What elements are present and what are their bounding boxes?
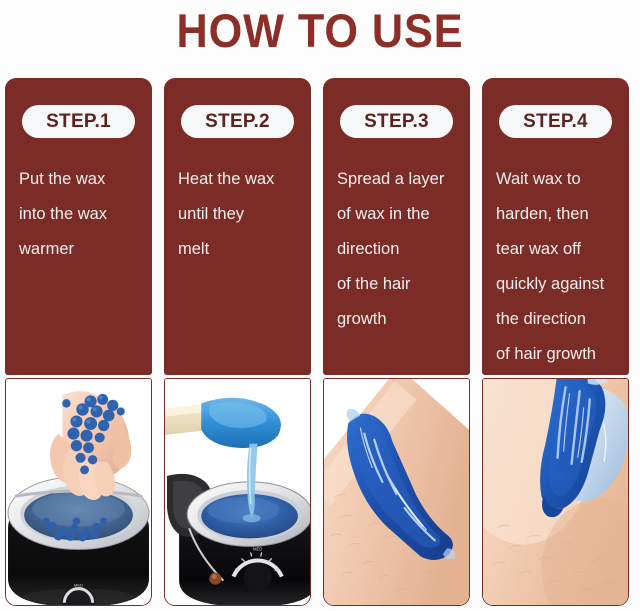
step-photo-4 [482, 378, 629, 606]
step-text-2: Heat the wax until they melt [178, 162, 305, 267]
step-photo-2: MED [164, 378, 311, 606]
step-badge-label-2: STEP.2 [205, 112, 270, 131]
step-badge-1: STEP.1 [22, 105, 135, 138]
step-column-3: STEP.3 Spread a layer of wax in the dire… [323, 78, 470, 606]
hand-pouring-wax-beads-into-warmer-illustration: MED [6, 379, 151, 605]
step-text-4: Wait wax to harden, then tear wax off qu… [496, 162, 623, 372]
how-to-use-infographic: HOW TO USE STEP.1 Put the wax into the w… [0, 0, 640, 611]
step-column-1: STEP.1 Put the wax into the wax warmer [5, 78, 152, 606]
step-column-4: STEP.4 Wait wax to harden, then tear wax… [482, 78, 629, 606]
wax-spread-on-arm-illustration [324, 379, 469, 605]
step-badge-label-1: STEP.1 [46, 112, 111, 131]
svg-text:MED: MED [74, 583, 83, 588]
step-card-1: STEP.1 Put the wax into the wax warmer [5, 78, 152, 375]
step-text-1: Put the wax into the wax warmer [19, 162, 146, 267]
step-photo-1: MED [5, 378, 152, 606]
steps-row: STEP.1 Put the wax into the wax warmer [5, 78, 635, 606]
step-badge-4: STEP.4 [499, 105, 612, 138]
step-card-4: STEP.4 Wait wax to harden, then tear wax… [482, 78, 629, 375]
step-column-2: STEP.2 Heat the wax until they melt [164, 78, 311, 606]
spatula-dripping-melted-wax-illustration: MED [165, 379, 310, 605]
step-badge-label-4: STEP.4 [523, 112, 588, 131]
step-badge-2: STEP.2 [181, 105, 294, 138]
step-badge-label-3: STEP.3 [364, 112, 429, 131]
step-card-2: STEP.2 Heat the wax until they melt [164, 78, 311, 375]
svg-text:MED: MED [253, 546, 262, 551]
step-photo-3 [323, 378, 470, 606]
step-badge-3: STEP.3 [340, 105, 453, 138]
peeling-hardened-wax-off-skin-illustration [483, 379, 628, 605]
step-card-3: STEP.3 Spread a layer of wax in the dire… [323, 78, 470, 375]
step-text-3: Spread a layer of wax in the direction o… [337, 162, 464, 337]
page-title: HOW TO USE [26, 2, 615, 60]
